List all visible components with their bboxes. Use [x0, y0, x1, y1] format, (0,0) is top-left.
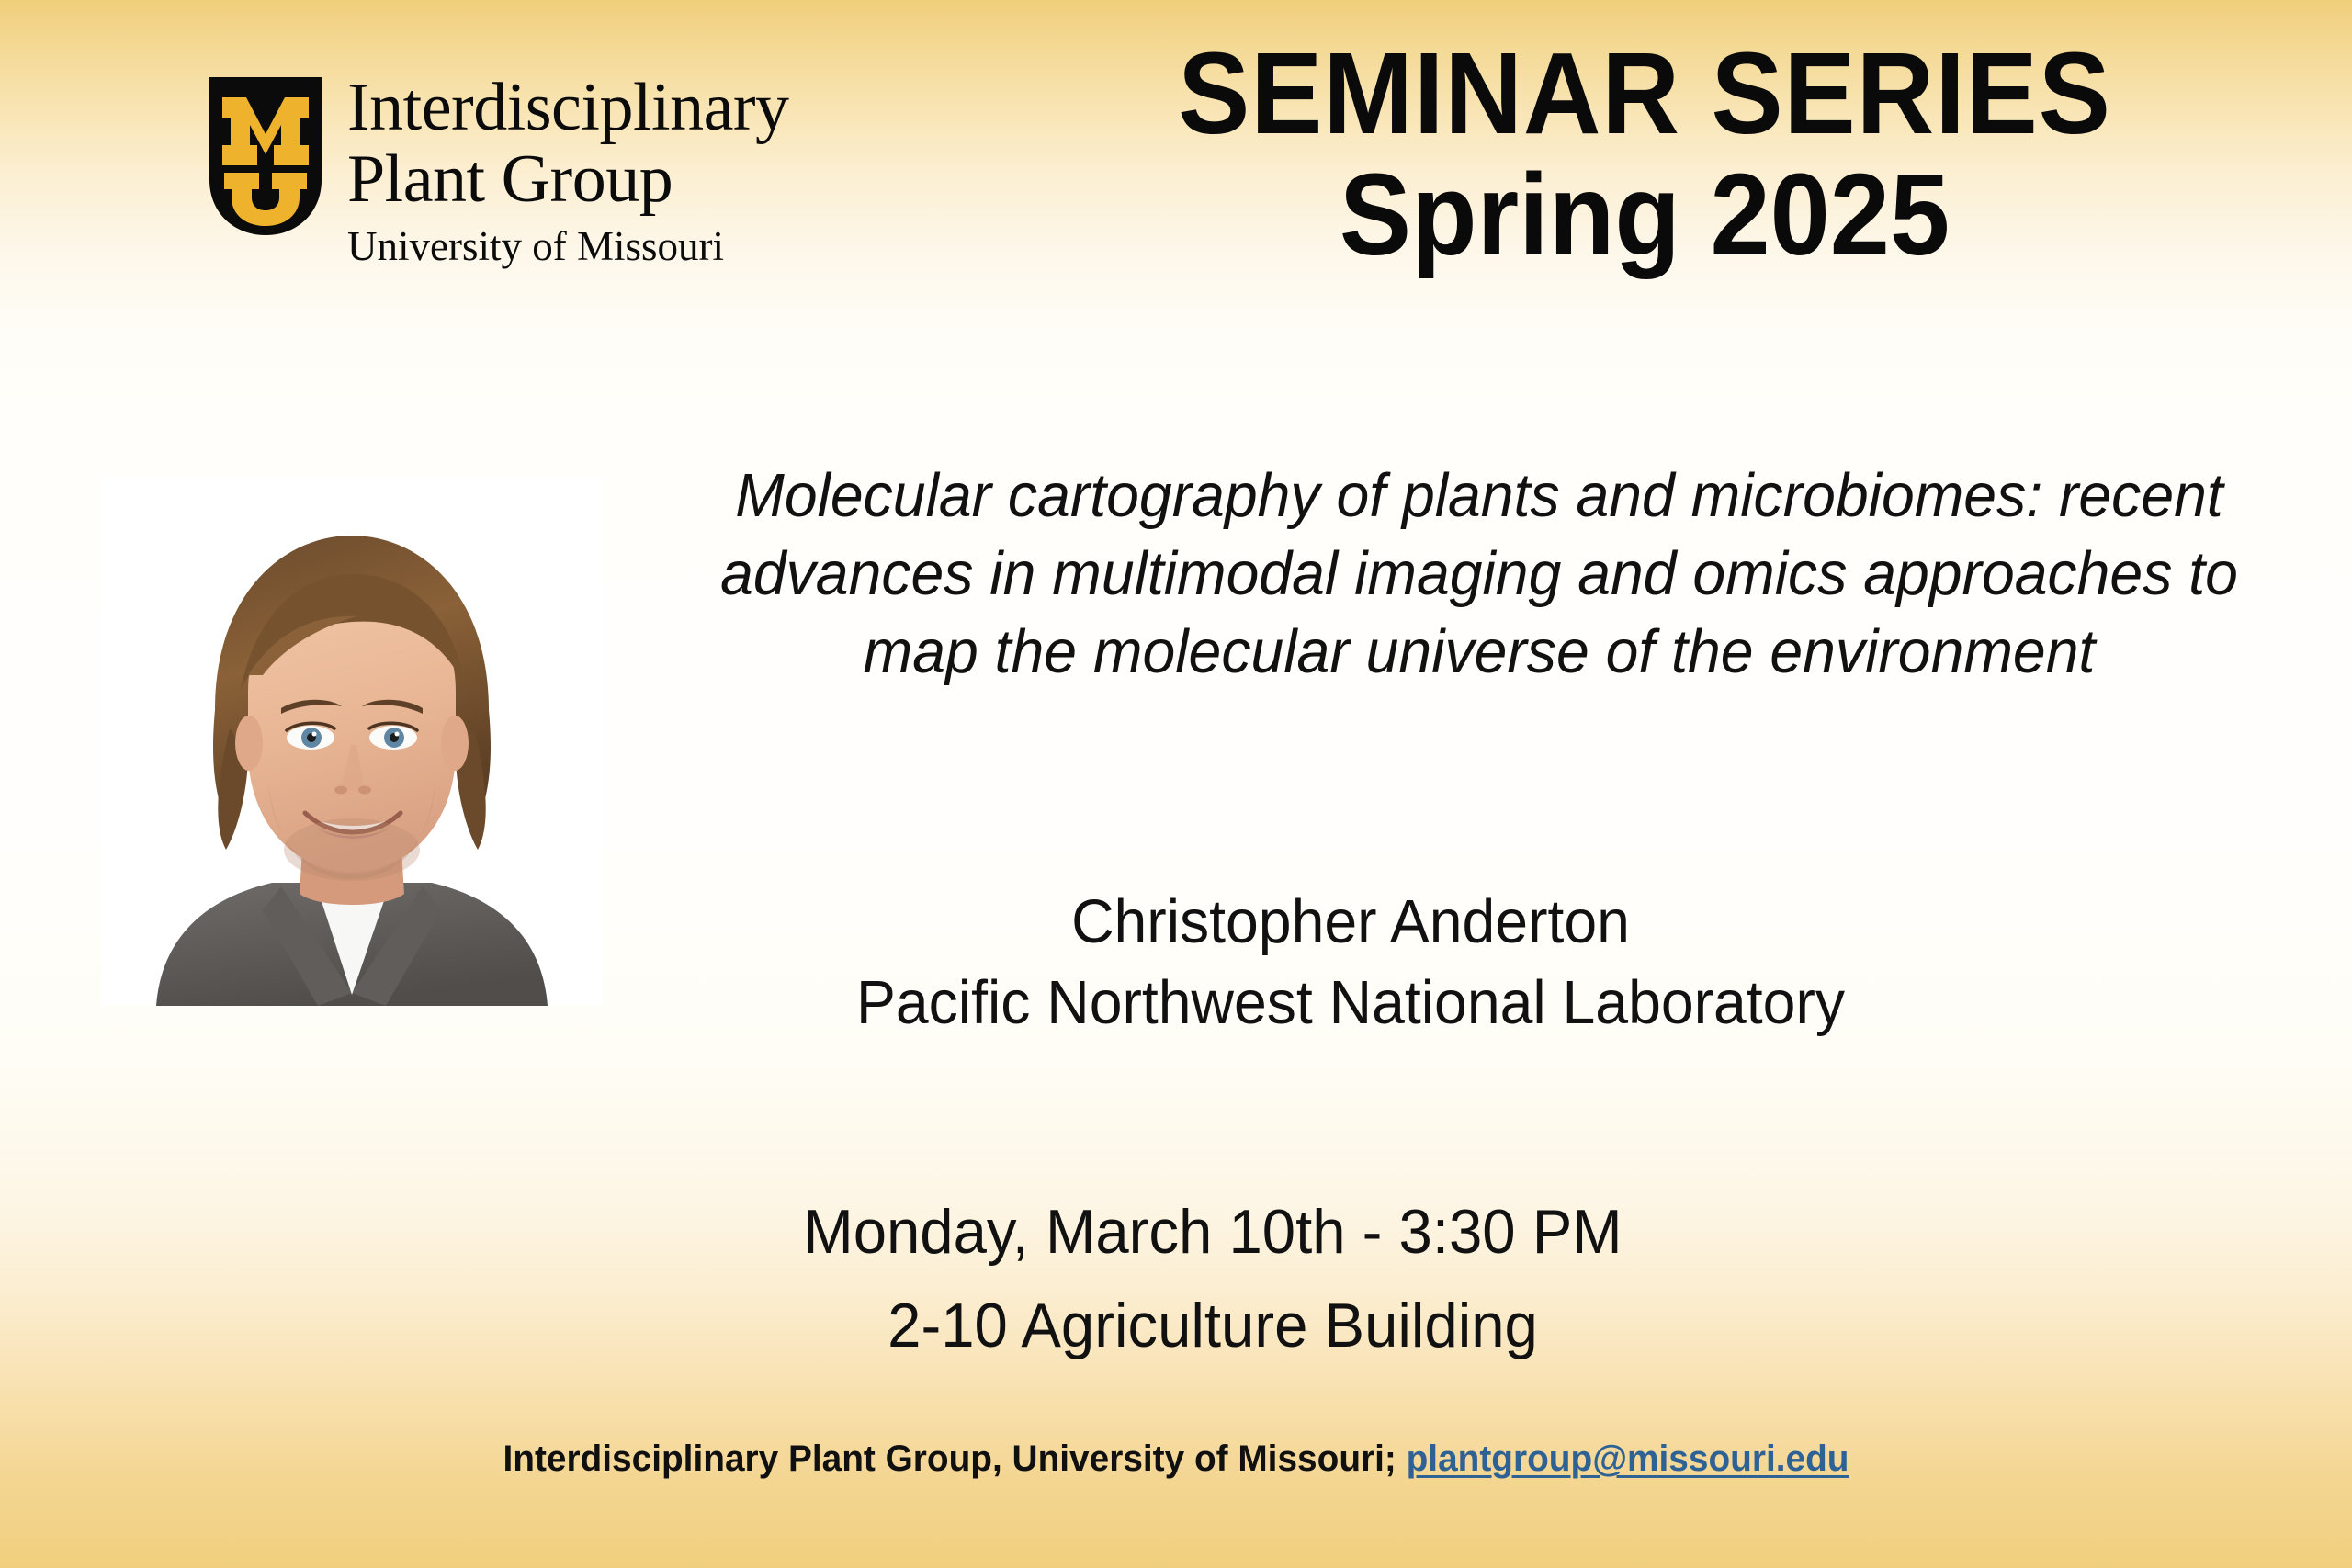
event-datetime: Monday, March 10th - 3:30 PM: [613, 1185, 1813, 1279]
event-details: Monday, March 10th - 3:30 PM 2-10 Agricu…: [613, 1185, 1813, 1372]
footer-organization: Interdisciplinary Plant Group, Universit…: [503, 1438, 1396, 1479]
talk-title: Molecular cartography of plants and micr…: [712, 457, 2246, 691]
series-heading: SEMINAR SERIES Spring 2025: [1084, 35, 2205, 277]
poster-header: Interdisciplinary Plant Group University…: [0, 0, 2352, 367]
logo-wordmark: Interdisciplinary Plant Group University…: [347, 72, 789, 272]
speaker-block: Christopher Anderton Pacific Northwest N…: [672, 882, 2030, 1043]
speaker-affiliation: Pacific Northwest National Laboratory: [672, 963, 2030, 1043]
ipg-logo-lockup: Interdisciplinary Plant Group University…: [209, 72, 789, 272]
speaker-name: Christopher Anderton: [672, 882, 2030, 963]
series-season: Spring 2025: [1124, 152, 2166, 277]
logo-line-university: University of Missouri: [347, 220, 789, 272]
series-title: SEMINAR SERIES: [1124, 35, 2166, 152]
seminar-poster: Interdisciplinary Plant Group University…: [0, 0, 2352, 1568]
event-location: 2-10 Agriculture Building: [613, 1279, 1813, 1372]
mu-shield-logo-icon: [209, 77, 322, 235]
logo-line-interdisciplinary: Interdisciplinary: [347, 72, 789, 143]
speaker-headshot-photo: [101, 479, 603, 1006]
footer: Interdisciplinary Plant Group, Universit…: [35, 1435, 2316, 1483]
footer-email-link[interactable]: plantgroup@missouri.edu: [1407, 1438, 1849, 1479]
logo-line-plant-group: Plant Group: [347, 143, 789, 215]
